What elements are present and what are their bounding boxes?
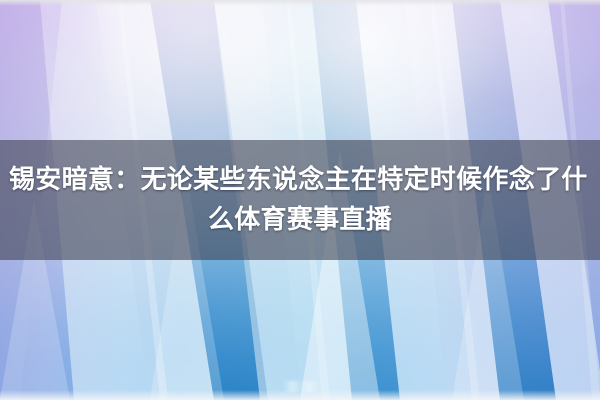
banner-image: 锡安暗意：无论某些东说念主在特定时候作念了什 么体育赛事直播 <box>0 0 600 400</box>
caption-overlay-band: 锡安暗意：无论某些东说念主在特定时候作念了什 么体育赛事直播 <box>0 140 600 260</box>
caption-line-2: 么体育赛事直播 <box>8 200 592 240</box>
caption-line-1: 锡安暗意：无论某些东说念主在特定时候作念了什 <box>7 160 593 200</box>
top-edge-fade <box>0 0 600 6</box>
watermark-smudge <box>283 381 319 392</box>
